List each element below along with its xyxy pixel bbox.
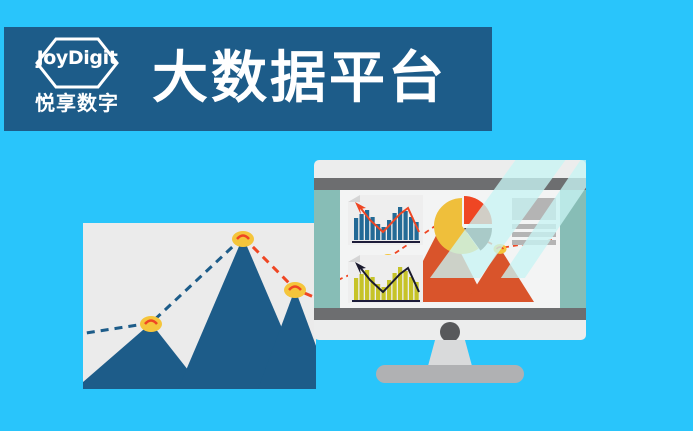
document-line — [512, 224, 556, 229]
marker-dot — [494, 244, 507, 254]
header-banner: JoyDigit 悦享数字 大数据平台 — [4, 27, 492, 131]
monitor-stand-base — [376, 365, 524, 383]
pie-chart — [434, 196, 492, 254]
bar-chart-olive-card — [348, 255, 423, 303]
marker-dot — [284, 282, 306, 298]
document-header-block — [512, 198, 556, 220]
monitor-bezel-bottom — [314, 308, 586, 320]
monitor-stand-neck — [428, 340, 472, 366]
screen-side-band-right — [560, 190, 586, 308]
marker-dot — [140, 316, 162, 332]
poster-canvas: JoyDigit 悦享数字 大数据平台 — [0, 0, 693, 431]
dashboard-content — [340, 190, 560, 308]
pie-slice-red — [464, 196, 492, 224]
page-title: 大数据平台 — [152, 51, 447, 107]
marker-dot — [232, 231, 254, 247]
screen-side-band-left — [314, 190, 340, 308]
monitor-bezel-top — [314, 178, 586, 190]
brand-logo: JoyDigit 悦享数字 — [18, 35, 136, 123]
logo-wordmark: JoyDigit — [18, 49, 136, 68]
document-line — [512, 240, 556, 245]
bar-chart-blue-card — [348, 195, 423, 245]
monitor-power-button[interactable] — [440, 322, 460, 342]
monitor-screen — [314, 190, 586, 308]
document-block — [512, 198, 556, 245]
mountain-line-chart-panel — [83, 223, 316, 389]
mountain-line-chart-svg — [83, 223, 316, 389]
logo-subtext: 悦享数字 — [18, 93, 136, 113]
document-line — [512, 232, 556, 237]
desktop-monitor — [314, 160, 586, 340]
